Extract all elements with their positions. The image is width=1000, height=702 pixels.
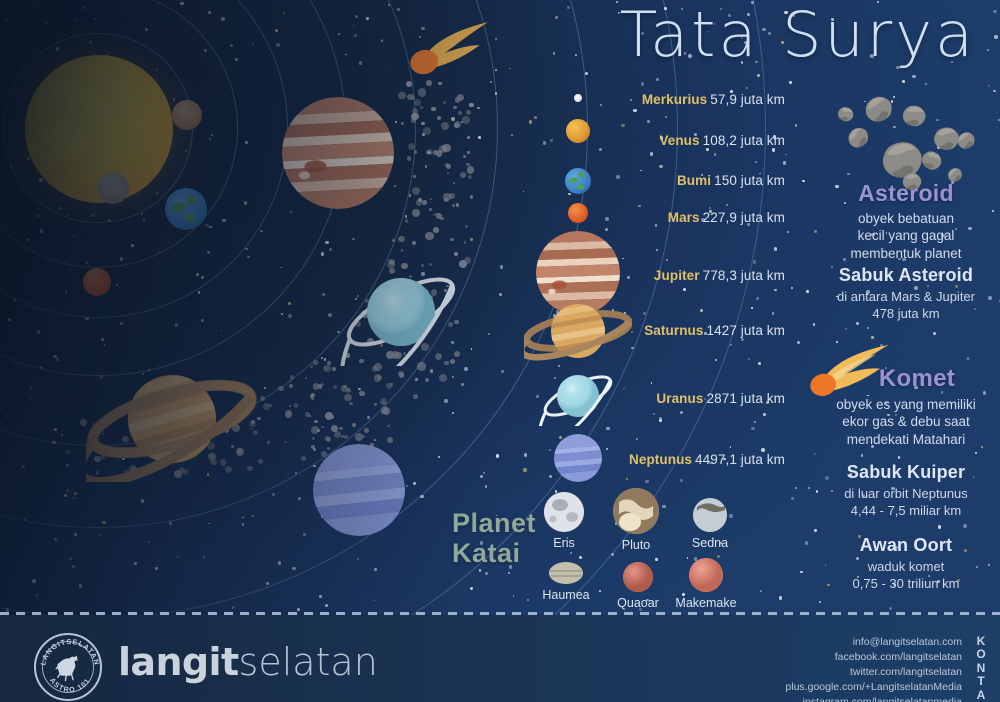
asteroid-belt-dot <box>406 81 412 87</box>
planet-name: Saturnus <box>644 323 703 338</box>
footer-bar: LANGITSELATAN ASTRO 101 langitselatan in… <box>0 615 1000 702</box>
asteroid-belt-dot <box>362 435 365 438</box>
asteroid-belt-dot <box>452 204 455 207</box>
planet-distance: 150 juta km <box>714 173 785 188</box>
asteroid-belt-dot <box>323 366 327 370</box>
asteroid-belt-dot <box>421 122 424 125</box>
asteroid-belt-dot <box>311 445 315 449</box>
asteroid-belt-dot <box>381 410 386 415</box>
star <box>993 10 997 14</box>
saturn-graphic-scene <box>86 356 258 482</box>
asteroid-belt-dot <box>352 423 356 427</box>
planet-name: Merkurius <box>642 92 707 107</box>
planet-distance: 4497,1 juta km <box>695 452 785 467</box>
star <box>813 323 816 326</box>
dwarf-planet-disk <box>549 562 583 584</box>
asteroid-belt-dot <box>333 385 337 389</box>
asteroid-belt-dot <box>398 92 405 99</box>
mars-graphic-scene <box>83 268 111 296</box>
star <box>993 90 996 93</box>
star <box>912 75 915 78</box>
asteroid-belt-dot <box>344 394 351 401</box>
dwarf-planet-item: Quaoar <box>604 562 672 610</box>
kontak-letter: O <box>970 648 992 661</box>
asteroid-belt-dot <box>311 426 318 433</box>
star <box>800 571 803 574</box>
asteroid-belt-dot <box>453 106 457 110</box>
dwarf-planet-item: Makemake <box>672 558 740 610</box>
asteroid-belt-dot <box>422 200 427 205</box>
asteroid-belt-dot <box>431 107 436 112</box>
infographic-poster: Tata Surya Merkurius57,9 juta kmVenus108… <box>0 0 1000 702</box>
star <box>756 297 759 300</box>
dwarf-planet-disk <box>689 558 723 592</box>
asteroid-belt-dot <box>450 238 453 241</box>
star <box>893 126 896 129</box>
planet-row: Uranus2871 juta km <box>656 391 785 406</box>
asteroid-belt-dot <box>412 209 420 217</box>
planet-row: Jupiter778,3 juta km <box>654 268 785 283</box>
brand-bold: langit <box>118 640 239 684</box>
dwarf-planet-label-text: Sedna <box>676 536 744 550</box>
awan-oort-line1: waduk komet <box>812 559 1000 576</box>
asteroid-belt-dot <box>458 111 462 115</box>
star <box>988 85 990 87</box>
earth-graphic-scene <box>165 188 207 230</box>
awan-oort-heading: Awan Oort <box>812 535 1000 556</box>
star <box>774 289 777 292</box>
planet-name: Uranus <box>656 391 703 406</box>
asteroid-belt-dot <box>463 155 466 158</box>
planet-name: Neptunus <box>629 452 692 467</box>
star <box>795 124 798 127</box>
star <box>760 590 762 592</box>
asteroid-belt-dot <box>418 88 426 96</box>
star <box>741 338 744 341</box>
asteroid-belt-dot <box>386 383 392 389</box>
dwarf-planet-disk <box>544 492 584 532</box>
planet-name: Bumi <box>677 173 711 188</box>
asteroid-belt-dot <box>398 236 404 242</box>
dwarf-label-line2: Katai <box>452 538 536 568</box>
comet-graphic-scene <box>405 18 505 74</box>
planet-distance: 1427 juta km <box>707 323 786 338</box>
asteroid-belt-dot <box>314 420 318 424</box>
star <box>680 479 683 482</box>
star <box>797 341 800 344</box>
mercury-graphic-scene <box>172 100 202 130</box>
star <box>795 487 797 489</box>
planet-row: Saturnus1427 juta km <box>644 323 785 338</box>
star <box>753 260 757 264</box>
asteroid-belt-dot <box>423 127 431 135</box>
langitselatan-logo-icon: LANGITSELATAN ASTRO 101 <box>34 633 102 701</box>
planet-name: Mars <box>668 210 700 225</box>
sabuk-kuiper-heading: Sabuk Kuiper <box>812 462 1000 483</box>
centaur-icon <box>51 650 85 684</box>
star <box>806 290 809 293</box>
contact-link-3[interactable]: twitter.com/langitselatan <box>785 665 962 680</box>
asteroid-rock-icon <box>833 103 856 125</box>
asteroid-belt-dot <box>318 384 323 389</box>
star <box>963 524 967 528</box>
star <box>836 341 838 343</box>
star <box>751 427 755 431</box>
sabuk-asteroid-block: Sabuk Asteroid di antara Mars & Jupiter … <box>812 265 1000 323</box>
planet-distance: 778,3 juta km <box>703 268 785 283</box>
jupiter-graphic-scene <box>282 97 394 209</box>
asteroid-belt-dot <box>442 144 450 152</box>
page-title: Tata Surya <box>620 2 976 67</box>
asteroid-rock-icon <box>842 123 873 152</box>
star <box>925 83 928 86</box>
neptune-graphic-scene <box>313 444 405 536</box>
asteroid-belt-dot <box>437 116 441 120</box>
asteroid-belt-dot <box>267 441 269 443</box>
star <box>936 119 939 122</box>
asteroid-belt-dot <box>426 80 432 86</box>
text-line-2: ekor gas & debu saat <box>812 413 1000 430</box>
contact-link-2[interactable]: facebook.com/langitselatan <box>785 650 962 665</box>
text-line-3: mendekati Matahari <box>812 431 1000 448</box>
asteroid-belt-dot <box>311 393 315 397</box>
asteroid-belt-dot <box>339 427 343 431</box>
asteroid-belt-dot <box>456 203 460 207</box>
planet-row: Merkurius57,9 juta km <box>642 92 785 107</box>
star <box>814 453 816 455</box>
star <box>898 456 900 458</box>
sabuk-asteroid-line1: di antara Mars & Jupiter <box>812 289 1000 306</box>
asteroid-belt-dot <box>359 391 364 396</box>
star <box>808 487 810 489</box>
planet-name: Venus <box>659 133 699 148</box>
sabuk-kuiper-line1: di luar orbit Neptunus <box>812 486 1000 503</box>
star <box>754 421 756 423</box>
star <box>889 607 892 610</box>
dwarf-planet-label-text: Eris <box>530 536 598 550</box>
star <box>774 247 778 251</box>
planet-row: Venus108,2 juta km <box>659 133 785 148</box>
asteroid-belt-dot <box>457 94 464 101</box>
star <box>730 446 732 448</box>
star <box>779 596 783 600</box>
star <box>867 327 869 329</box>
asteroid-belt-dot <box>301 456 306 461</box>
sabuk-kuiper-block: Sabuk Kuiper di luar orbit Neptunus 4,44… <box>812 462 1000 520</box>
star <box>975 452 977 454</box>
asteroid-rock-icon <box>897 100 929 130</box>
asteroid-belt-dot <box>412 108 419 115</box>
star <box>787 231 789 233</box>
star <box>758 362 761 365</box>
uranus-graphic-scene <box>335 258 465 366</box>
venus-graphic-scene <box>97 172 129 204</box>
star <box>902 80 905 83</box>
asteroid-belt-dot <box>412 187 420 195</box>
mercury-size-graphic <box>574 94 582 102</box>
star <box>785 154 787 156</box>
star <box>751 307 753 309</box>
contact-links[interactable]: info@langitselatan.comfacebook.com/langi… <box>785 635 962 702</box>
sabuk-asteroid-heading: Sabuk Asteroid <box>812 265 1000 286</box>
planet-distance: 108,2 juta km <box>703 133 785 148</box>
asteroid-belt-dot <box>407 156 412 161</box>
star <box>791 497 794 500</box>
saturnus-size-graphic <box>524 293 632 369</box>
star <box>861 454 864 457</box>
sabuk-asteroid-line2: 478 juta km <box>812 306 1000 323</box>
star <box>763 413 766 416</box>
star <box>791 287 793 289</box>
star <box>819 601 821 603</box>
asteroid-belt-dot <box>411 96 415 100</box>
asteroid-belt-dot <box>469 103 474 108</box>
asteroid-belt-dot <box>429 208 432 211</box>
dwarf-planet-label-text: Quaoar <box>604 596 672 610</box>
sabuk-kuiper-line2: 4,44 - 7,5 miliar km <box>812 503 1000 520</box>
planet-row: Mars227,9 juta km <box>668 210 785 225</box>
star <box>814 529 817 532</box>
venus-size-graphic <box>566 119 590 143</box>
asteroid-belt-dot <box>409 194 411 196</box>
uranus-size-graphic <box>538 366 618 426</box>
awan-oort-block: Awan Oort waduk komet 0,75 - 30 triliun … <box>812 535 1000 593</box>
dwarf-planet-item: Haumea <box>532 562 600 602</box>
dwarf-planet-disk <box>613 488 659 534</box>
asteroid-belt-dot <box>387 437 393 443</box>
neptunus-size-graphic <box>554 434 602 482</box>
dwarf-label-line1: Planet <box>452 508 536 538</box>
star <box>845 328 847 330</box>
komet-description: obyek es yang memilikiekor gas & debu sa… <box>812 396 1000 448</box>
text-line-2: kecil yang gagal <box>812 227 1000 244</box>
dwarf-planet-disk <box>623 562 653 592</box>
star <box>789 81 792 84</box>
planet-row: Neptunus4497,1 juta km <box>629 452 785 467</box>
contact-link-4[interactable]: plus.google.com/+LangitselatanMedia <box>785 680 962 695</box>
asteroid-belt-dot <box>462 116 470 124</box>
asteroid-belt-dot <box>349 402 353 406</box>
asteroid-rock-icon <box>858 93 897 126</box>
kontak-vertical-label: KONTAK <box>970 635 992 702</box>
star <box>847 173 850 176</box>
star <box>893 96 895 98</box>
star <box>994 35 998 39</box>
star <box>772 148 776 152</box>
asteroid-belt-dot <box>341 435 344 438</box>
asteroid-belt-dot <box>416 199 423 206</box>
kontak-letter: N <box>970 662 992 675</box>
star <box>802 180 805 183</box>
star <box>871 336 874 339</box>
contact-link-1[interactable]: info@langitselatan.com <box>785 635 962 650</box>
comet-icon <box>806 344 902 400</box>
text-line-3: membentuk planet <box>812 245 1000 262</box>
star <box>783 161 786 164</box>
dwarf-planet-label: Planet Katai <box>452 508 536 568</box>
asteroid-description: obyek bebatuankecil yang gagalmembentuk … <box>812 210 1000 262</box>
brand-wordmark: langitselatan <box>118 643 378 681</box>
asteroid-belt-dot <box>467 151 470 154</box>
star <box>987 49 989 51</box>
awan-oort-line2: 0,75 - 30 triliun km <box>812 576 1000 593</box>
dwarf-planet-label-text: Makemake <box>672 596 740 610</box>
planet-name: Jupiter <box>654 268 700 283</box>
planet-distance: 2871 juta km <box>707 391 786 406</box>
asteroid-belt-dot <box>284 441 286 443</box>
planet-distance: 57,9 juta km <box>710 92 785 107</box>
asteroid-belt-dot <box>294 403 299 408</box>
star <box>933 332 936 335</box>
kontak-letter: A <box>970 689 992 702</box>
star <box>938 525 942 529</box>
kontak-letter: K <box>970 635 992 648</box>
text-line-1: obyek bebatuan <box>812 210 1000 227</box>
asteroid-belt-dot <box>446 164 451 169</box>
bumi-size-graphic <box>565 168 591 194</box>
dwarf-planet-label-text: Haumea <box>532 588 600 602</box>
star <box>748 358 750 360</box>
dwarf-planet-disk <box>693 498 727 532</box>
brand-light: selatan <box>239 640 378 684</box>
asteroid-belt-dot <box>464 241 467 244</box>
star <box>655 558 657 560</box>
mars-size-graphic <box>568 203 588 223</box>
dwarf-planet-item: Sedna <box>676 498 744 550</box>
asteroid-belt-dot <box>438 82 442 86</box>
contact-link-5[interactable]: instagram.com/langitselatanmedia <box>785 695 962 702</box>
planet-row: Bumi150 juta km <box>677 173 785 188</box>
dwarf-planet-item: Eris <box>530 492 598 550</box>
asteroid-belt-dot <box>413 175 416 178</box>
asteroid-belt-dot <box>413 394 418 399</box>
star <box>967 357 970 360</box>
asteroid-block: Asteroid obyek bebatuankecil yang gagalm… <box>812 180 1000 262</box>
star <box>805 541 809 545</box>
asteroid-belt-dot <box>467 166 475 174</box>
dwarf-planet-item: Pluto <box>602 488 670 552</box>
asteroid-belt-dot <box>398 371 403 376</box>
asteroid-belt-dot <box>425 232 433 240</box>
star <box>772 312 775 315</box>
asteroid-belt-dot <box>433 227 439 233</box>
planet-distance: 227,9 juta km <box>703 210 785 225</box>
dwarf-planet-label-text: Pluto <box>602 538 670 552</box>
kontak-letter: T <box>970 675 992 688</box>
